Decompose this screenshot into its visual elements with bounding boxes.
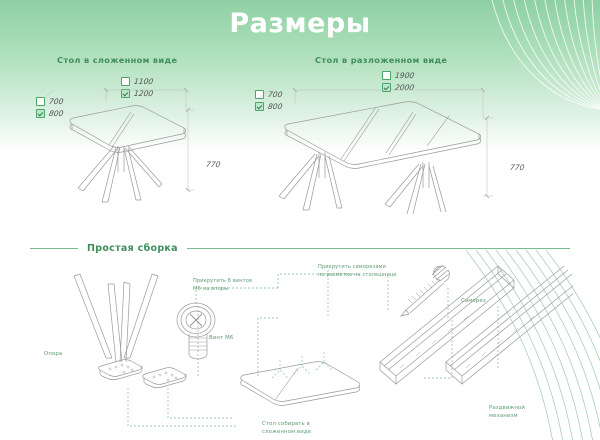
page-title: Размеры: [0, 8, 600, 39]
label-screw: Саморез: [461, 297, 486, 305]
divider-right: [187, 248, 570, 249]
label-assemble-folded: Стол собирать в сложенном виде: [262, 420, 311, 436]
section-title-folded: Стол в сложенном виде: [57, 55, 177, 65]
divider-left: [30, 248, 78, 249]
folded-table-drawing: [36, 84, 226, 214]
note-bolts: Прикрутить 8 винтов М6 на опоры: [193, 278, 252, 293]
extended-height-dimension: 770: [509, 163, 525, 172]
folded-height-dimension: 770: [205, 160, 221, 169]
poster-page: Размеры Стол в сложенном виде Стол в раз…: [0, 0, 600, 440]
note-screws: Прикрутить саморезами по разметке на сто…: [318, 264, 397, 279]
label-bolt: Винт М6: [209, 334, 233, 342]
assembly-title: Простая сборка: [78, 243, 187, 254]
label-support: Опора: [44, 350, 62, 358]
section-title-extended: Стол в разложенном виде: [315, 55, 447, 65]
extended-table-drawing: [255, 78, 535, 214]
arc-fan-decor-bottom-icon: [460, 250, 600, 440]
label-slide-mechanism: Раздвижной механизм: [489, 404, 525, 420]
